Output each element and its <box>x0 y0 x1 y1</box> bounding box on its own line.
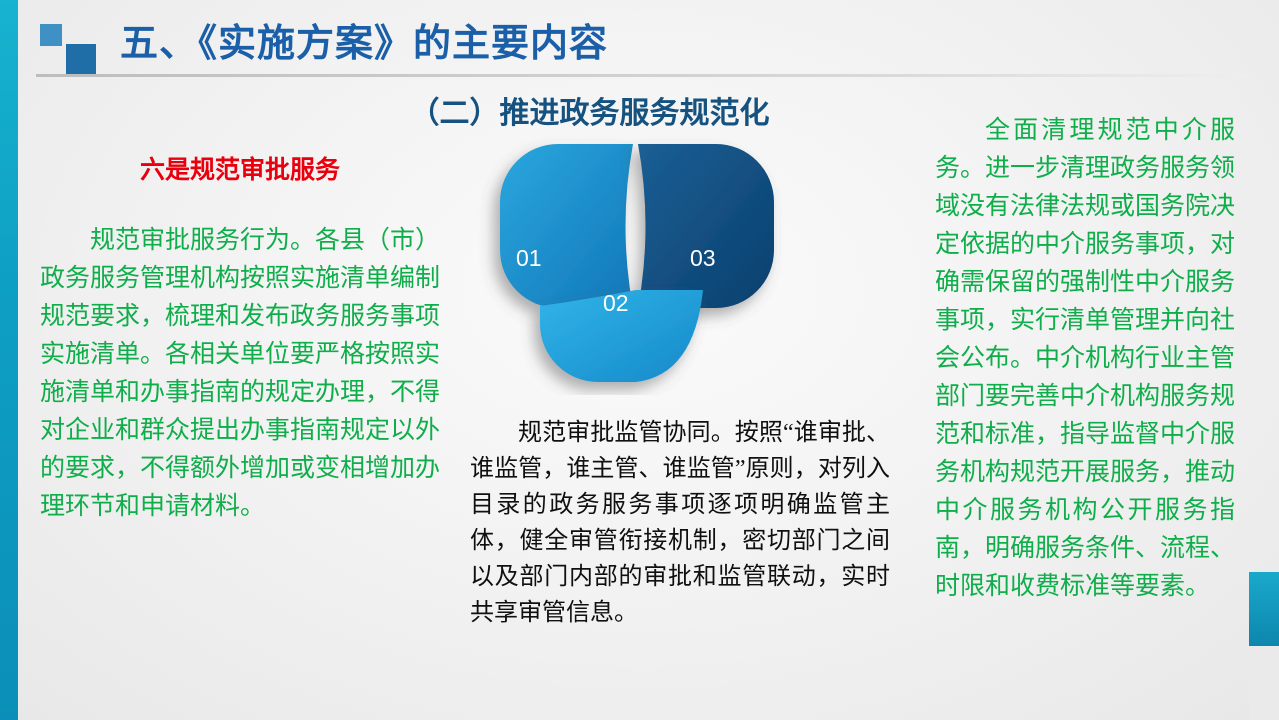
header-divider <box>36 74 1246 77</box>
right-accent-bar-lower <box>1249 646 1279 720</box>
petal-label-03: 03 <box>690 245 716 272</box>
decor-square-small <box>40 24 62 46</box>
petal-01 <box>500 144 633 308</box>
left-body-text: 规范审批服务行为。各县（市）政务服务管理机构按照实施清单编制规范要求，梳理和发布… <box>40 222 440 526</box>
right-body-text: 全面清理规范中介服务。进一步清理政务服务领域没有法律法规或国务院决定依据的中介服… <box>935 112 1235 606</box>
decor-square-large <box>66 44 96 74</box>
left-column: 六是规范审批服务 规范审批服务行为。各县（市）政务服务管理机构按照实施清单编制规… <box>40 150 440 526</box>
petal-03 <box>638 144 774 308</box>
petal-label-02: 02 <box>603 290 629 317</box>
left-heading: 六是规范审批服务 <box>40 150 440 186</box>
right-accent-bar <box>1249 572 1279 646</box>
slide-root: 五、《实施方案》的主要内容 （二）推进政务服务规范化 六是规范审批服务 规范审批… <box>0 0 1279 720</box>
center-body-text: 规范审批监管协同。按照“谁审批、谁监管，谁主管、谁监管”原则，对列入目录的政务服… <box>470 415 890 631</box>
section-subtitle-text: （二）推进政务服务规范化 <box>410 88 770 132</box>
page-title: 五、《实施方案》的主要内容 <box>120 12 608 67</box>
petal-label-01: 01 <box>516 245 542 272</box>
petal-graphic: 01 03 02 <box>468 130 808 395</box>
